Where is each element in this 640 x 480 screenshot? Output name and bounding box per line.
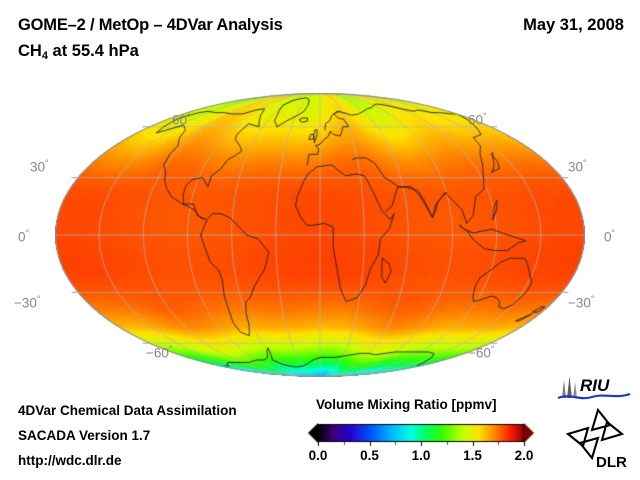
riu-towers-icon bbox=[562, 376, 577, 398]
species-subtitle: CH4 at 55.4 hPa bbox=[18, 42, 139, 61]
lat-label-0: 0° bbox=[18, 228, 29, 245]
species-prefix: CH bbox=[18, 42, 42, 60]
lat-label-60: 60° bbox=[172, 111, 191, 128]
riu-logo-text: RIU bbox=[580, 376, 610, 395]
colorbar-tick-2.0: 2.0 bbox=[515, 448, 534, 463]
lat-label-60: 60° bbox=[468, 111, 487, 128]
colorbar-tick-0.0: 0.0 bbox=[309, 448, 328, 463]
colorbar bbox=[306, 421, 534, 447]
species-subscript: 4 bbox=[42, 50, 48, 62]
footer-line-2: SACADA Version 1.7 bbox=[18, 428, 150, 443]
colorbar-tick-1.5: 1.5 bbox=[463, 448, 482, 463]
dlr-logo: DLR bbox=[562, 408, 632, 470]
lat-label-minus30: −30° bbox=[14, 294, 41, 311]
colorbar-title: Volume Mixing Ratio [ppmv] bbox=[316, 397, 497, 412]
riu-logo: RIU bbox=[556, 374, 632, 402]
footer-line-1: 4DVar Chemical Data Assimilation bbox=[18, 403, 237, 418]
page-title: GOME–2 / MetOp – 4DVar Analysis bbox=[18, 16, 283, 35]
lat-label-minus60: −60° bbox=[146, 344, 173, 361]
lat-label-30: 30° bbox=[30, 158, 49, 175]
dlr-star-icon bbox=[568, 410, 622, 458]
mollweide-map bbox=[55, 93, 585, 377]
lat-label-0: 0° bbox=[604, 228, 615, 245]
lat-label-minus60: −60° bbox=[468, 344, 495, 361]
colorbar-tick-labels: 0.00.51.01.52.0 bbox=[312, 448, 530, 466]
dlr-logo-text: DLR bbox=[596, 454, 627, 470]
footer-line-3: http://wdc.dlr.de bbox=[18, 453, 122, 468]
lat-label-30: 30° bbox=[568, 158, 587, 175]
colorbar-tick-0.5: 0.5 bbox=[360, 448, 379, 463]
species-suffix: at 55.4 hPa bbox=[48, 42, 139, 60]
colorbar-tick-1.0: 1.0 bbox=[412, 448, 431, 463]
lat-label-minus30: −30° bbox=[568, 294, 595, 311]
date-label: May 31, 2008 bbox=[523, 16, 624, 35]
